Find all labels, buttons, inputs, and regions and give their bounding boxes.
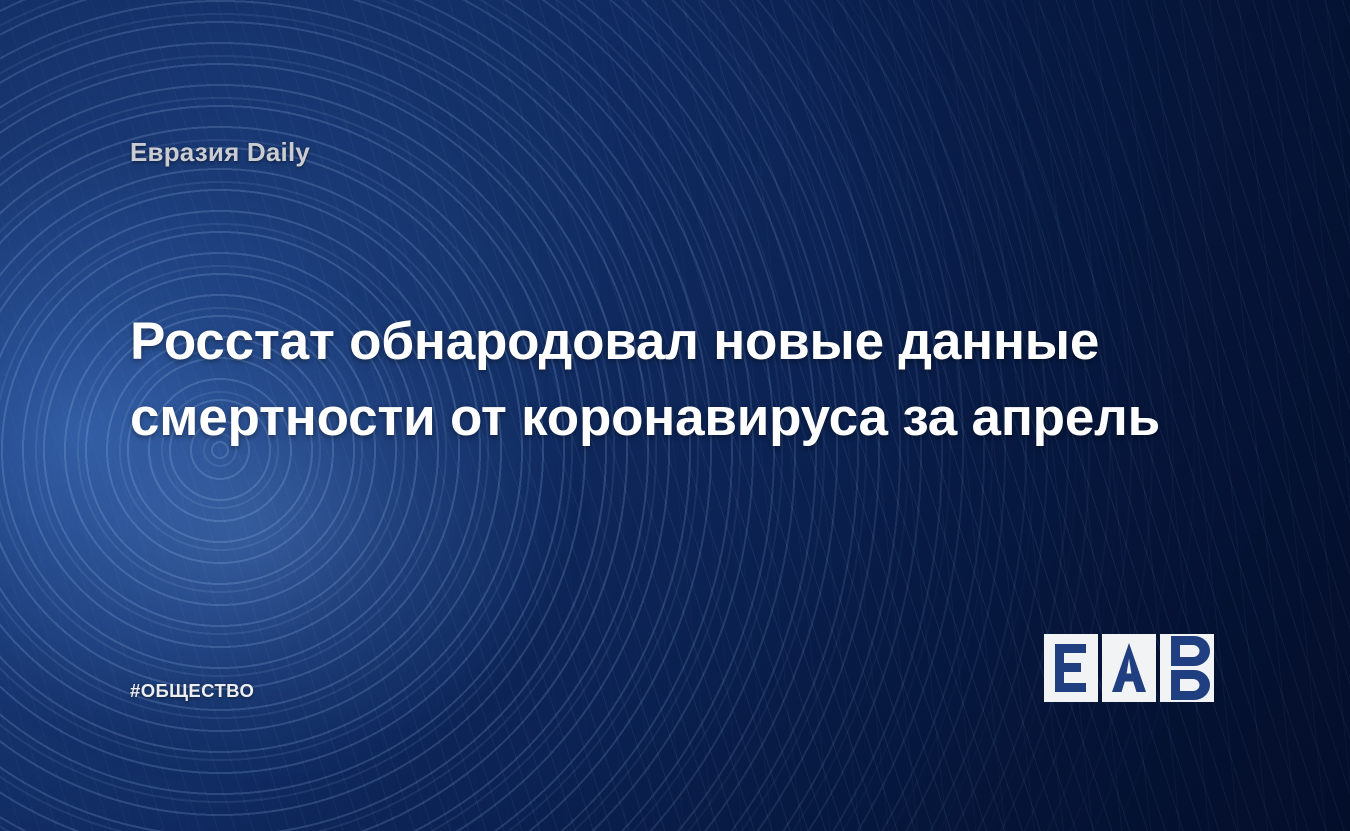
logo-tile-d bbox=[1160, 634, 1214, 702]
category-tag[interactable]: #ОБЩЕСТВО bbox=[130, 680, 254, 702]
logo-tile-e bbox=[1044, 634, 1098, 702]
headline-title: Росстат обнародовал новые данные смертно… bbox=[130, 304, 1220, 457]
ead-logo[interactable] bbox=[1044, 634, 1220, 702]
brand-name: Евразия Daily bbox=[130, 137, 310, 168]
news-share-card: Евразия Daily Росстат обнародовал новые … bbox=[0, 0, 1350, 831]
logo-tile-a bbox=[1102, 634, 1156, 702]
